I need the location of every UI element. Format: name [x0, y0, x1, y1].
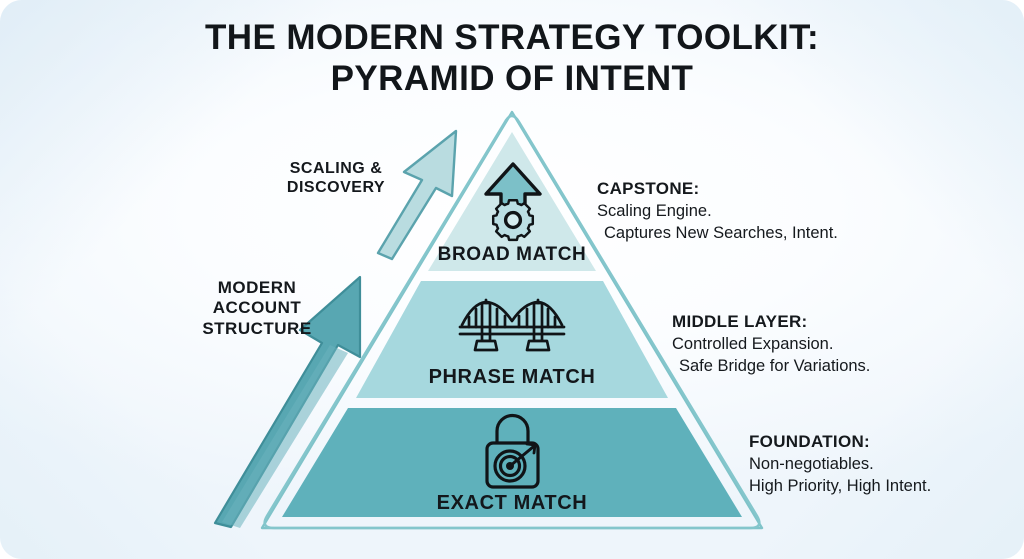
- note-capstone-heading: CAPSTONE:: [597, 178, 838, 201]
- note-capstone-line-2: Captures New Searches, Intent.: [597, 223, 838, 245]
- note-foundation-line-1: Non-negotiables.: [749, 454, 931, 476]
- callout-scaling-line-1: SCALING &: [270, 159, 402, 178]
- note-middle-layer: MIDDLE LAYER: Controlled Expansion. Safe…: [672, 311, 870, 377]
- tier-label-broad-match: BROAD MATCH: [0, 244, 1024, 266]
- note-capstone: CAPSTONE: Scaling Engine. Captures New S…: [597, 178, 838, 244]
- tier-label-phrase-match: PHRASE MATCH: [0, 366, 1024, 389]
- note-middle-line-2: Safe Bridge for Variations.: [672, 356, 870, 378]
- page-title: THE MODERN STRATEGY TOOLKIT: PYRAMID OF …: [0, 18, 1024, 100]
- infographic-canvas: THE MODERN STRATEGY TOOLKIT: PYRAMID OF …: [0, 0, 1024, 559]
- note-capstone-line-1: Scaling Engine.: [597, 201, 838, 223]
- title-line-2: PYRAMID OF INTENT: [0, 59, 1024, 100]
- note-foundation-line-2: High Priority, High Intent.: [749, 476, 931, 498]
- callout-scaling-line-2: DISCOVERY: [270, 178, 402, 197]
- note-foundation-heading: FOUNDATION:: [749, 431, 931, 454]
- callout-modern-line-2: ACCOUNT: [192, 298, 322, 318]
- note-middle-line-1: Controlled Expansion.: [672, 334, 870, 356]
- callout-modern-account-structure: MODERN ACCOUNT STRUCTURE: [192, 278, 322, 339]
- callout-modern-line-1: MODERN: [192, 278, 322, 298]
- note-middle-heading: MIDDLE LAYER:: [672, 311, 870, 334]
- note-foundation: FOUNDATION: Non-negotiables. High Priori…: [749, 431, 931, 497]
- title-line-1: THE MODERN STRATEGY TOOLKIT:: [0, 18, 1024, 59]
- callout-modern-line-3: STRUCTURE: [192, 319, 322, 339]
- callout-scaling-discovery: SCALING & DISCOVERY: [270, 159, 402, 197]
